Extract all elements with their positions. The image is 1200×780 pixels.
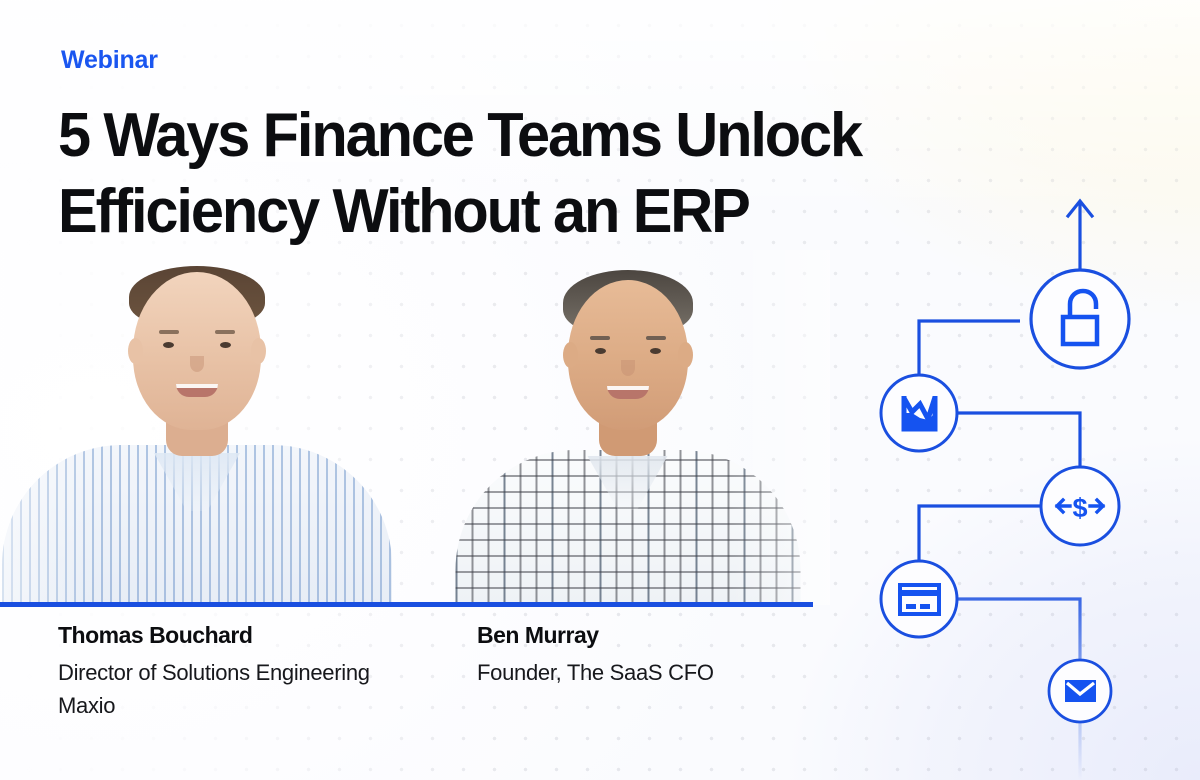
speaker-1-company: Maxio bbox=[58, 689, 458, 722]
page-title-line-1: 5 Ways Finance Teams Unlock bbox=[58, 98, 960, 174]
speaker-2-brow-right bbox=[646, 336, 666, 340]
page-title: 5 Ways Finance Teams Unlock Efficiency W… bbox=[58, 98, 960, 250]
speaker-1-role: Director of Solutions Engineering bbox=[58, 656, 458, 689]
speaker-2-ear-left bbox=[563, 342, 578, 368]
speaker-2-name: Ben Murray bbox=[477, 622, 827, 649]
speaker-1-ear-left bbox=[128, 338, 143, 364]
speaker-1-name: Thomas Bouchard bbox=[58, 622, 458, 649]
page-title-line-2: Efficiency Without an ERP bbox=[58, 174, 960, 250]
speaker-2-eye-right bbox=[650, 348, 661, 354]
envelope-icon bbox=[1065, 680, 1096, 702]
speaker-2-face bbox=[568, 280, 688, 430]
speaker-2-collar bbox=[588, 456, 668, 510]
section-divider bbox=[0, 602, 813, 607]
speaker-2-eye-left bbox=[595, 348, 606, 354]
speaker-credit-2: Ben Murray Founder, The SaaS CFO bbox=[477, 622, 827, 689]
flow-node-card[interactable] bbox=[881, 561, 957, 637]
flow-node-unlock[interactable] bbox=[1031, 270, 1129, 368]
speaker-2-mouth bbox=[607, 386, 649, 399]
speaker-1-ear-right bbox=[251, 338, 266, 364]
speaker-1-brow-right bbox=[215, 330, 235, 334]
speaker-1-eye-right bbox=[220, 342, 231, 348]
speaker-photo-1 bbox=[0, 250, 412, 605]
svg-text:$: $ bbox=[1072, 493, 1087, 523]
speaker-1-eye-left bbox=[163, 342, 174, 348]
speaker-photos bbox=[0, 250, 830, 605]
speaker-1-brow-left bbox=[159, 330, 179, 334]
speaker-2-brow-left bbox=[590, 336, 610, 340]
up-arrow-icon bbox=[1068, 201, 1092, 276]
speaker-1-nose bbox=[190, 356, 204, 372]
webinar-promo-canvas: Webinar 5 Ways Finance Teams Unlock Effi… bbox=[0, 0, 1200, 780]
speaker-1-collar bbox=[154, 453, 240, 511]
flow-node-money[interactable]: $ bbox=[1041, 467, 1119, 545]
speaker-2-shirt bbox=[455, 450, 800, 605]
card-node-circle bbox=[881, 561, 957, 637]
eyebrow-label: Webinar bbox=[61, 46, 158, 75]
flow-diagram: $ bbox=[860, 180, 1200, 780]
flow-node-mail[interactable] bbox=[1049, 660, 1111, 722]
speaker-2-ear-right bbox=[678, 342, 693, 368]
speaker-photo-2 bbox=[440, 250, 815, 605]
chart-node-circle bbox=[881, 375, 957, 451]
speaker-2-nose bbox=[621, 360, 635, 376]
speaker-1-face bbox=[133, 272, 261, 430]
speaker-1-shirt bbox=[2, 445, 392, 605]
speaker-1-mouth bbox=[176, 384, 218, 397]
speaker-credit-1: Thomas Bouchard Director of Solutions En… bbox=[58, 622, 458, 722]
flow-node-chart[interactable] bbox=[881, 375, 957, 451]
speaker-2-role: Founder, The SaaS CFO bbox=[477, 656, 827, 689]
